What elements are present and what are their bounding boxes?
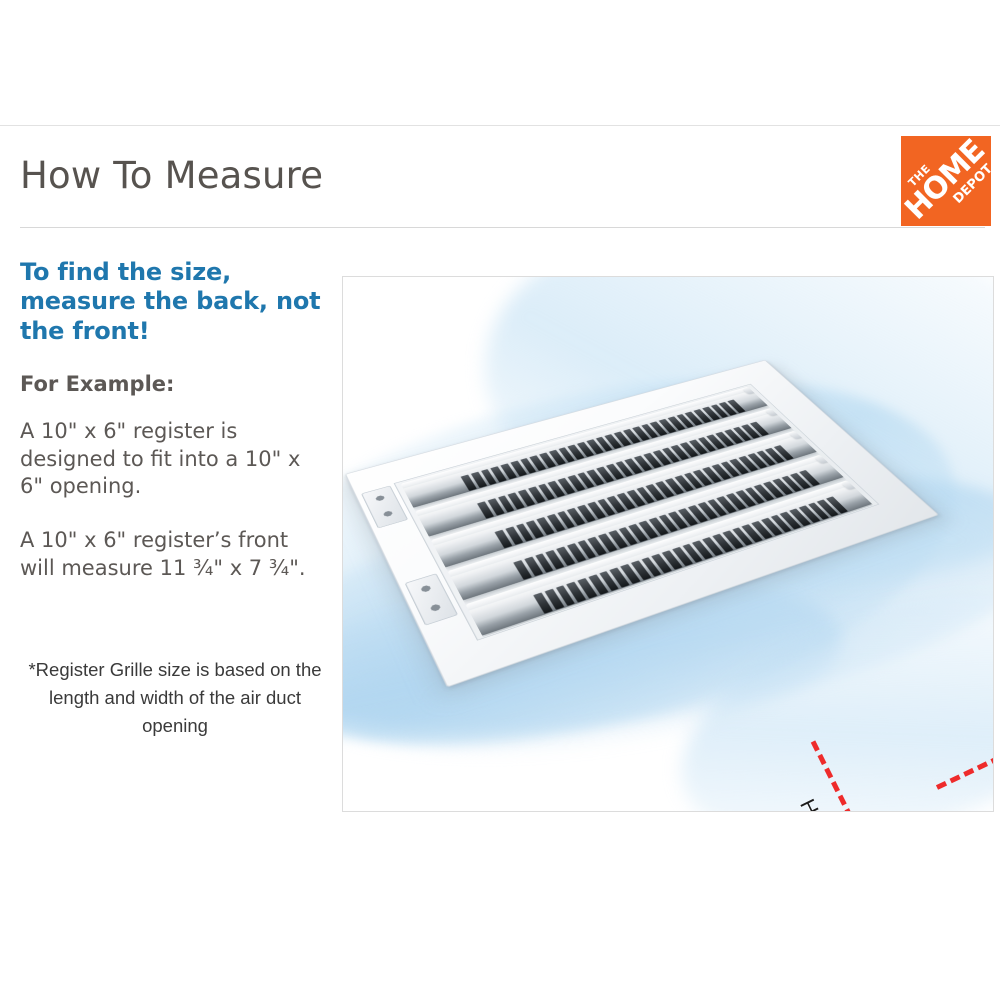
footnote-text: *Register Grille size is based on the le… [25, 656, 325, 740]
register-stage [343, 277, 993, 811]
product-image-panel: Width- 10 in. Height/Length- 6 in. Measu… [342, 276, 994, 812]
instructions-column: To find the size, measure the back, not … [20, 258, 325, 608]
example-subheading: For Example: [20, 372, 325, 396]
page-root: How To Measure THE HOME DEPOT To find th… [0, 0, 1000, 1000]
air-register-product [345, 360, 939, 688]
logo-inner: THE HOME DEPOT [901, 136, 991, 226]
example-paragraph-1: A 10" x 6" register is designed to fit i… [20, 418, 325, 501]
lede-heading: To find the size, measure the back, not … [20, 258, 325, 346]
page-header: How To Measure [0, 140, 1000, 230]
page-title: How To Measure [20, 154, 323, 197]
top-divider [0, 125, 1000, 126]
home-depot-logo: THE HOME DEPOT [901, 136, 991, 226]
example-paragraph-2: A 10" x 6" register’s front will measure… [20, 527, 325, 582]
title-divider [20, 227, 985, 228]
